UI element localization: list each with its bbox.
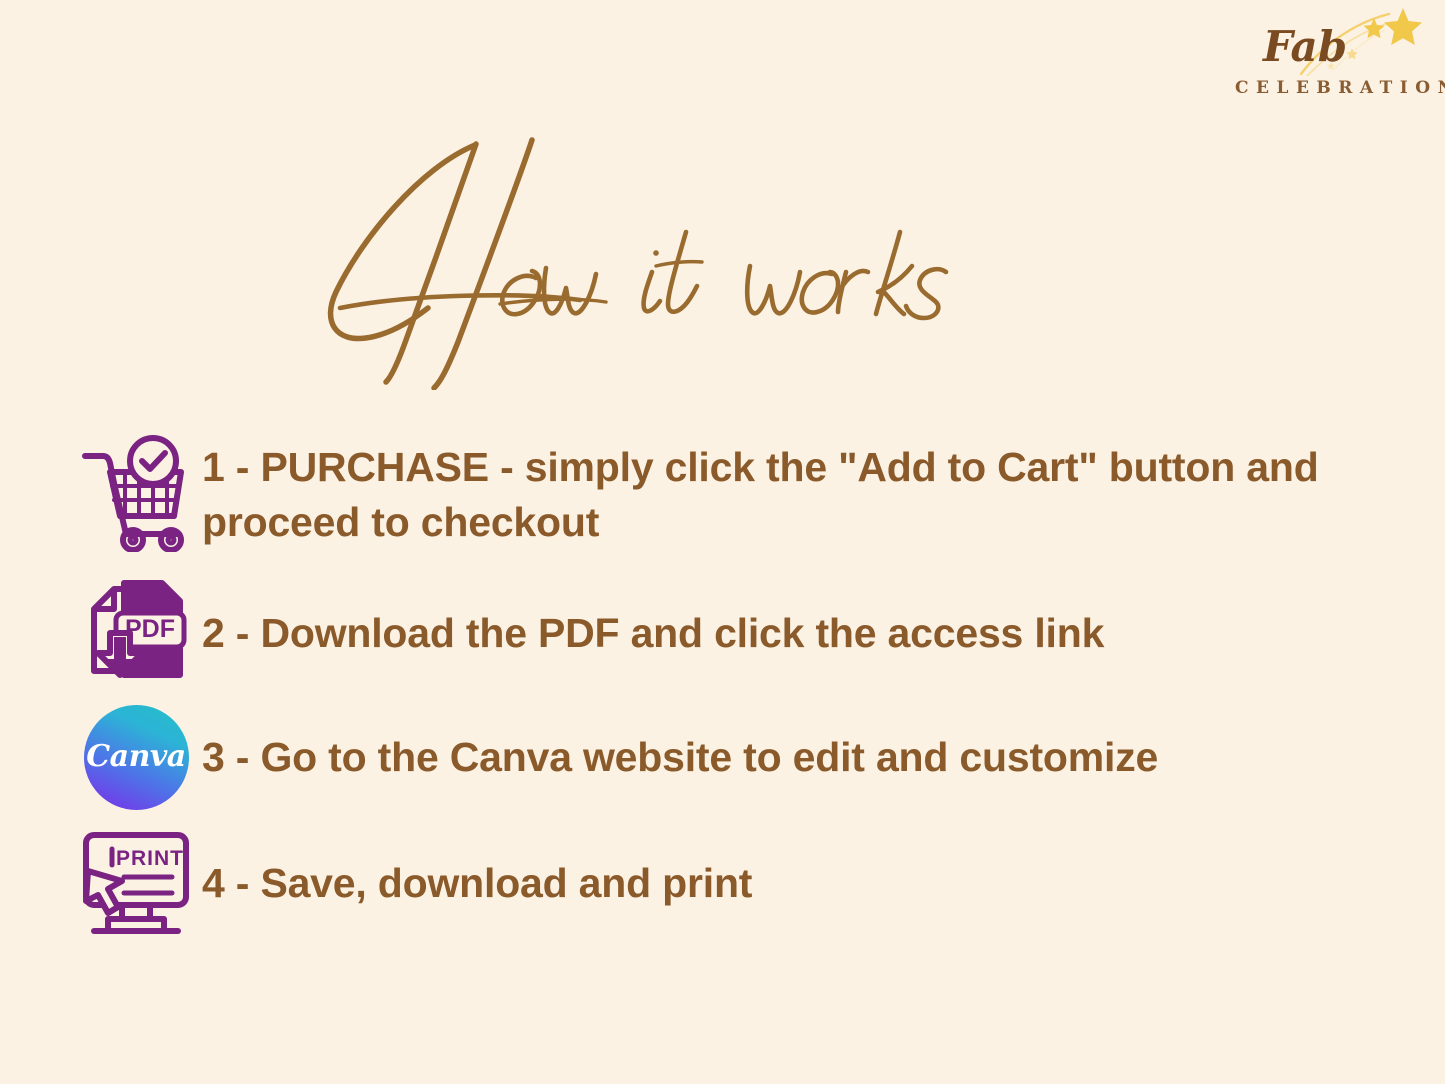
brand-subtitle: CELEBRATIONS [1235, 78, 1445, 98]
list-item: Canva 3 - Go to the Canva website to edi… [70, 698, 1390, 816]
shopping-cart-check-icon [70, 428, 202, 558]
page-title: How it works [300, 120, 1000, 390]
pdf-download-icon: PDF [70, 568, 202, 694]
step-text: 1 - PURCHASE - simply click the "Add to … [202, 428, 1390, 549]
print-label: PRINT [116, 847, 184, 870]
canva-logo-icon: Canva [70, 698, 202, 816]
list-item: 1 - PURCHASE - simply click the "Add to … [70, 428, 1390, 558]
list-item: PRINT 4 - Save, download and print [70, 820, 1390, 946]
steps-list: 1 - PURCHASE - simply click the "Add to … [70, 428, 1390, 956]
brand-logo: Fab CELEBRATIONS [1227, 4, 1427, 109]
print-monitor-icon: PRINT [70, 820, 202, 946]
canva-label: Canva [86, 739, 186, 774]
step-text: 3 - Go to the Canva website to edit and … [202, 698, 1390, 785]
step-text: 4 - Save, download and print [202, 820, 1390, 911]
brand-name: Fab [1263, 26, 1347, 68]
list-item: PDF 2 - Download the PDF and click the a… [70, 568, 1390, 694]
page-title-script-art [300, 120, 1000, 390]
step-text: 2 - Download the PDF and click the acces… [202, 568, 1390, 661]
